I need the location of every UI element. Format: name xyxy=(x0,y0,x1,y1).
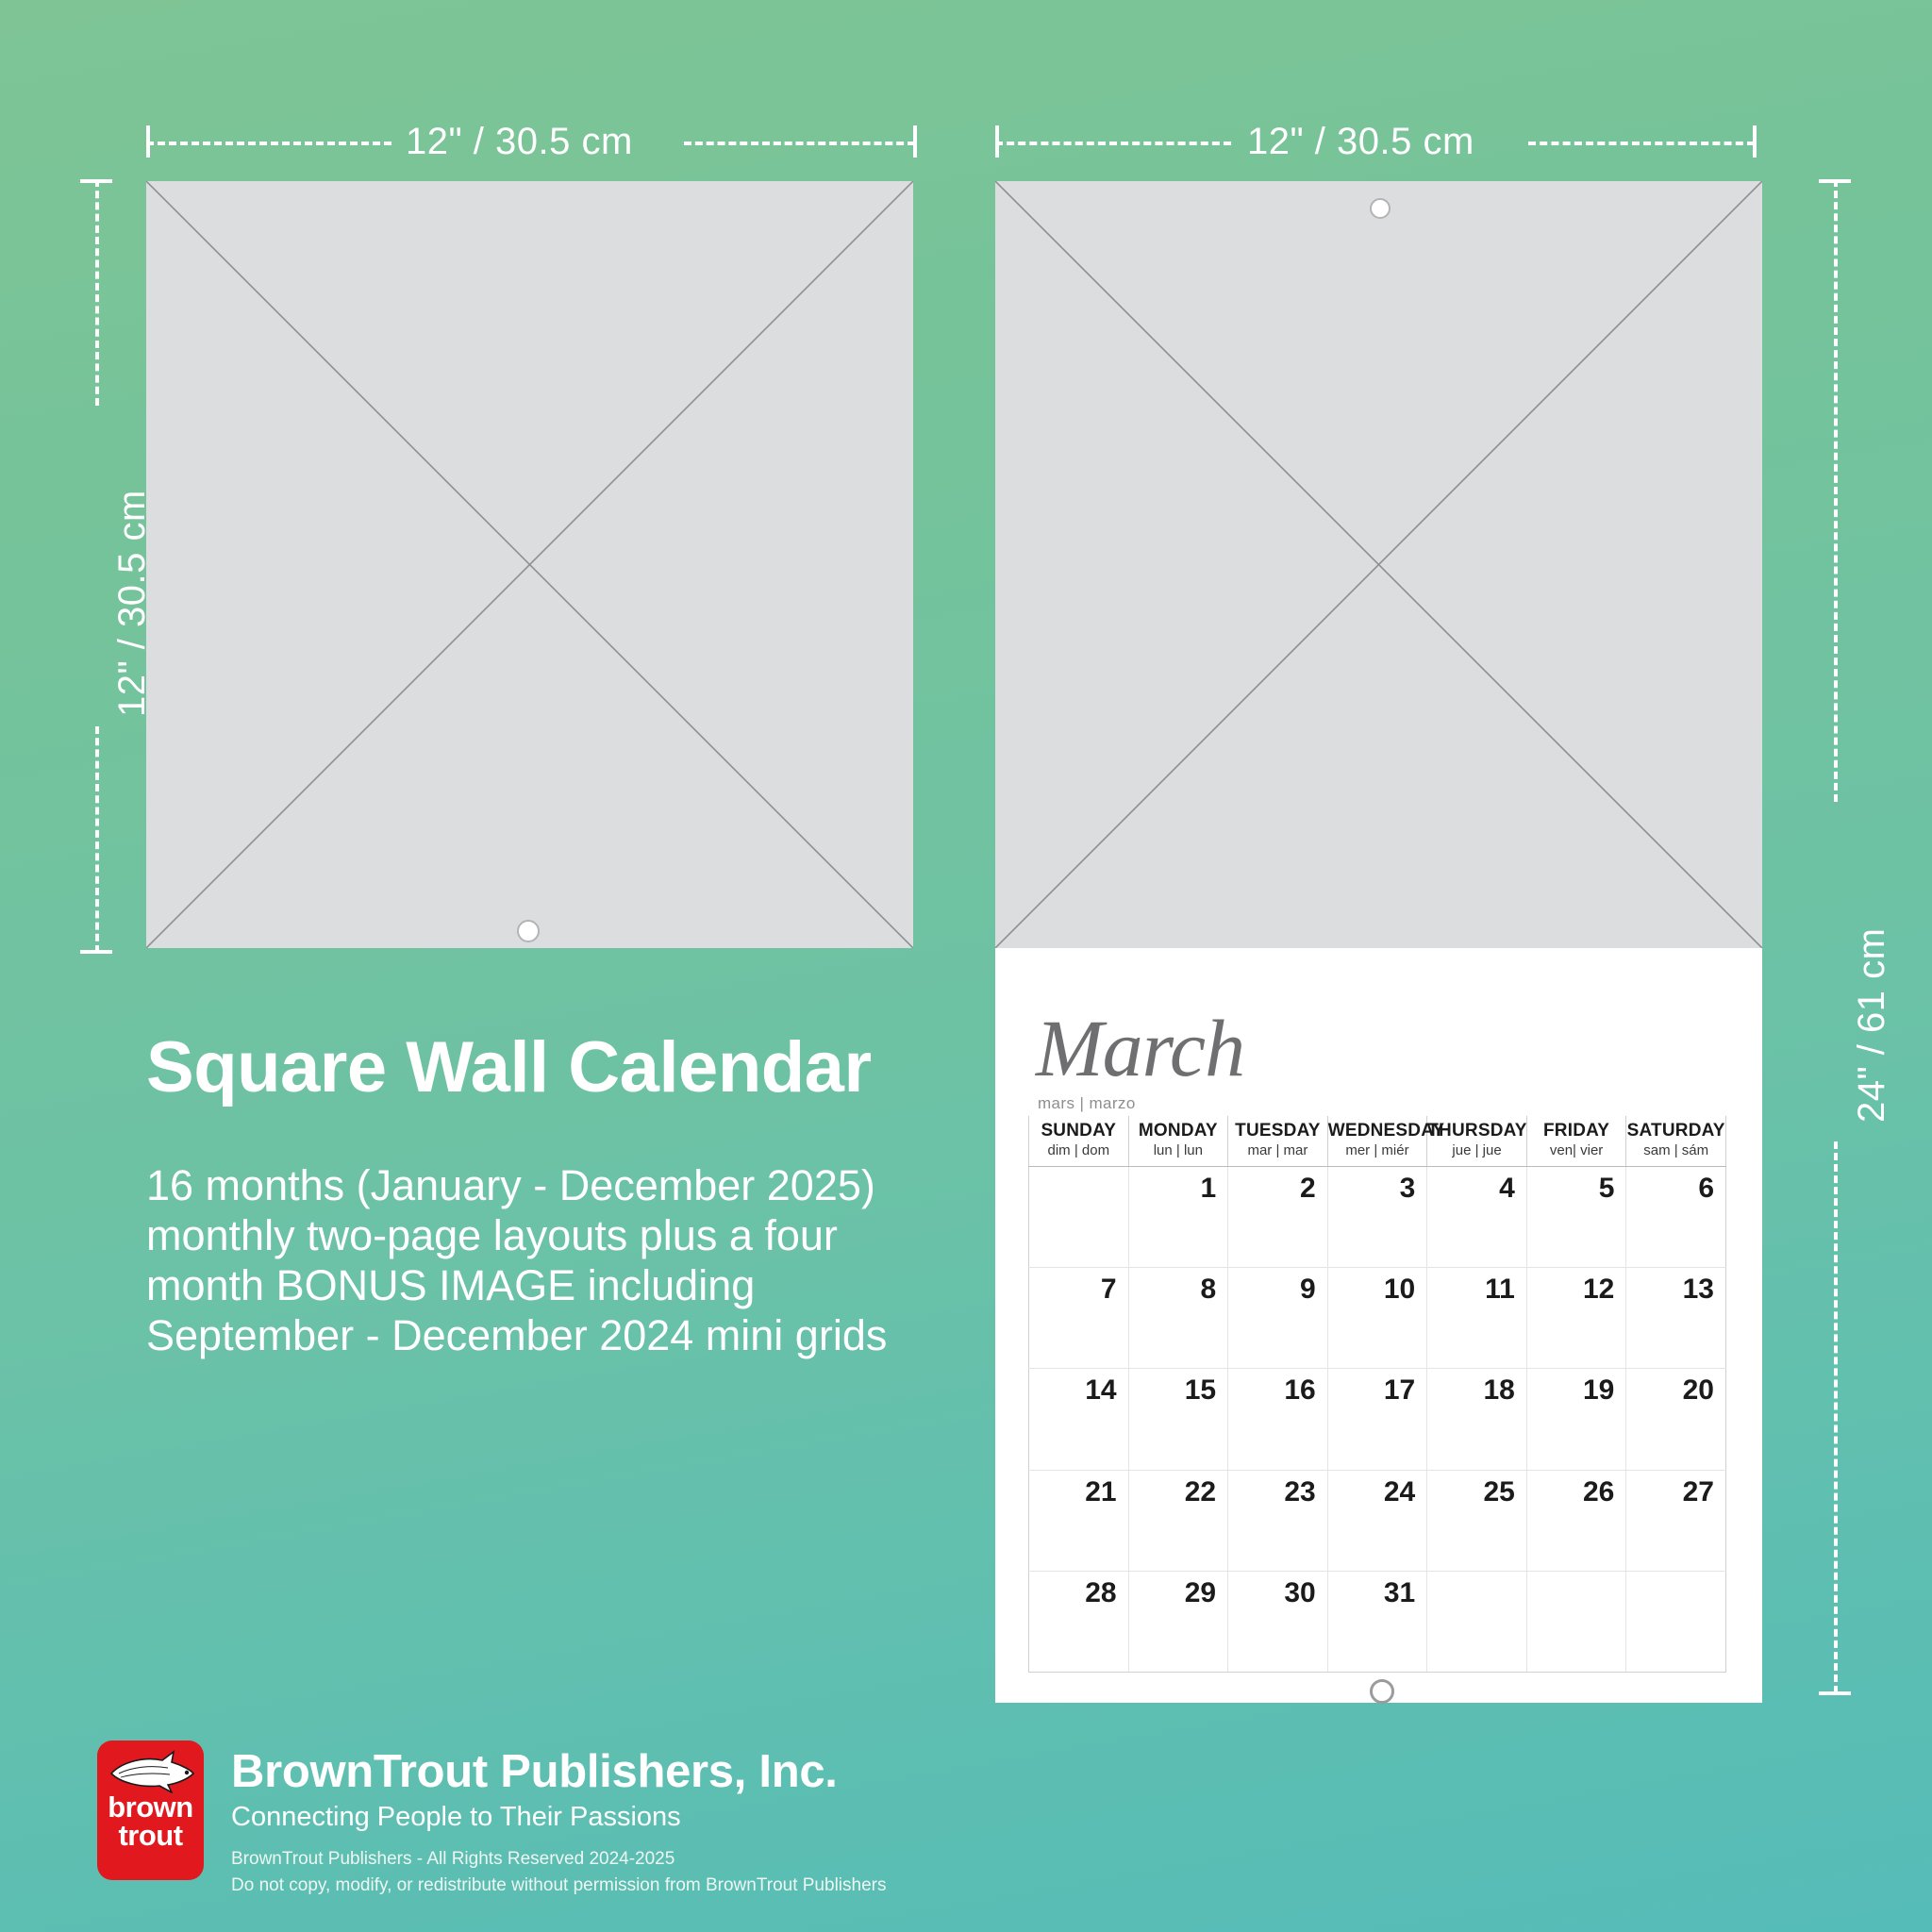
brand-name: BrownTrout Publishers, Inc. xyxy=(231,1745,838,1798)
logo-word-trout: trout xyxy=(118,1822,182,1850)
day-number: 24 xyxy=(1384,1476,1415,1507)
day-number: 6 xyxy=(1698,1173,1714,1204)
day-number: 16 xyxy=(1284,1374,1315,1406)
calendar-day-cell[interactable] xyxy=(1029,1166,1129,1267)
right-dimension-label: 24" / 61 cm xyxy=(1851,928,1893,1123)
day-number: 7 xyxy=(1101,1274,1117,1305)
top-right-dimension-label: 12" / 30.5 cm xyxy=(1247,121,1474,163)
legal-notice: BrownTrout Publishers - All Rights Reser… xyxy=(231,1846,886,1898)
product-headline: Square Wall Calendar xyxy=(146,1026,872,1108)
day-number: 17 xyxy=(1384,1374,1415,1406)
day-number: 30 xyxy=(1284,1577,1315,1608)
calendar-day-cell[interactable] xyxy=(1526,1571,1626,1672)
calendar-day-cell[interactable]: 27 xyxy=(1626,1470,1726,1571)
calendar-day-cell[interactable]: 7 xyxy=(1029,1268,1129,1369)
day-number: 9 xyxy=(1300,1274,1316,1305)
calendar-day-cell[interactable]: 1 xyxy=(1128,1166,1228,1267)
weekday-header-saturday: SATURDAY sam | sám xyxy=(1626,1116,1726,1166)
calendar-month-title: March xyxy=(1036,1008,1244,1089)
weekday-label-en: THURSDAY xyxy=(1427,1122,1526,1141)
weekday-label-loc: lun | lun xyxy=(1129,1142,1228,1159)
calendar-day-cell[interactable]: 25 xyxy=(1427,1470,1527,1571)
calendar-day-cell[interactable]: 15 xyxy=(1128,1369,1228,1470)
legal-line-copyright: BrownTrout Publishers - All Rights Reser… xyxy=(231,1846,886,1873)
day-number: 3 xyxy=(1400,1173,1416,1204)
calendar-day-cell[interactable]: 12 xyxy=(1526,1268,1626,1369)
weekday-label-en: MONDAY xyxy=(1129,1122,1228,1141)
weekday-header-monday: MONDAY lun | lun xyxy=(1128,1116,1228,1166)
day-number: 12 xyxy=(1583,1274,1614,1305)
weekday-header-tuesday: TUESDAY mar | mar xyxy=(1228,1116,1328,1166)
calendar-day-cell[interactable]: 11 xyxy=(1427,1268,1527,1369)
legal-line-restriction: Do not copy, modify, or redistribute wit… xyxy=(231,1873,886,1899)
weekday-label-loc: jue | jue xyxy=(1427,1142,1526,1159)
calendar-day-cell[interactable] xyxy=(1427,1571,1527,1672)
calendar-day-cell[interactable]: 2 xyxy=(1228,1166,1328,1267)
calendar-weekday-header-row: SUNDAY dim | dom MONDAY lun | lun TUESDA… xyxy=(1029,1116,1726,1166)
day-number: 22 xyxy=(1185,1476,1216,1507)
day-number: 18 xyxy=(1483,1374,1514,1406)
panel-diagonal-cross-icon xyxy=(995,181,1762,948)
brand-tagline: Connecting People to Their Passions xyxy=(231,1802,681,1833)
panel-diagonal-cross-icon xyxy=(146,181,913,948)
left-panel-hanging-hole xyxy=(517,920,540,942)
calendar-day-cell[interactable]: 31 xyxy=(1327,1571,1427,1672)
description-line: month BONUS IMAGE including xyxy=(146,1260,887,1310)
calendar-week-row: 7 8 9 10 11 12 13 xyxy=(1029,1268,1726,1369)
calendar-day-cell[interactable]: 17 xyxy=(1327,1369,1427,1470)
description-line: monthly two-page layouts plus a four xyxy=(146,1210,887,1260)
calendar-day-cell[interactable] xyxy=(1626,1571,1726,1672)
weekday-label-en: SATURDAY xyxy=(1626,1122,1725,1141)
day-number: 29 xyxy=(1185,1577,1216,1608)
weekday-label-en: TUESDAY xyxy=(1228,1122,1327,1141)
day-number: 13 xyxy=(1683,1274,1714,1305)
day-number: 21 xyxy=(1085,1476,1116,1507)
calendar-day-cell[interactable]: 24 xyxy=(1327,1470,1427,1571)
day-number: 28 xyxy=(1085,1577,1116,1608)
weekday-label-en: WEDNESDAY xyxy=(1328,1122,1427,1141)
right-cover-panel xyxy=(995,181,1762,948)
day-number: 5 xyxy=(1599,1173,1615,1204)
day-number: 27 xyxy=(1683,1476,1714,1507)
calendar-month-localized: mars | marzo xyxy=(1038,1094,1136,1113)
calendar-day-cell[interactable]: 14 xyxy=(1029,1369,1129,1470)
calendar-week-row: 1 2 3 4 5 6 xyxy=(1029,1166,1726,1267)
calendar-week-row: 14 15 16 17 18 19 20 xyxy=(1029,1369,1726,1470)
calendar-day-cell[interactable]: 18 xyxy=(1427,1369,1527,1470)
calendar-day-cell[interactable]: 3 xyxy=(1327,1166,1427,1267)
day-number: 8 xyxy=(1200,1274,1216,1305)
day-number: 23 xyxy=(1284,1476,1315,1507)
calendar-day-cell[interactable]: 13 xyxy=(1626,1268,1726,1369)
calendar-day-cell[interactable]: 20 xyxy=(1626,1369,1726,1470)
weekday-label-loc: mer | miér xyxy=(1328,1142,1427,1159)
calendar-day-cell[interactable]: 19 xyxy=(1526,1369,1626,1470)
calendar-day-cell[interactable]: 8 xyxy=(1128,1268,1228,1369)
weekday-label-loc: dim | dom xyxy=(1029,1142,1128,1159)
day-number: 10 xyxy=(1384,1274,1415,1305)
calendar-week-row: 28 29 30 31 xyxy=(1029,1571,1726,1672)
weekday-header-wednesday: WEDNESDAY mer | miér xyxy=(1327,1116,1427,1166)
calendar-day-cell[interactable]: 10 xyxy=(1327,1268,1427,1369)
weekday-header-friday: FRIDAY ven| vier xyxy=(1526,1116,1626,1166)
weekday-label-loc: ven| vier xyxy=(1527,1142,1626,1159)
logo-word-brown: brown xyxy=(108,1793,193,1822)
day-number: 26 xyxy=(1583,1476,1614,1507)
left-cover-panel xyxy=(146,181,913,948)
top-left-dimension-label: 12" / 30.5 cm xyxy=(406,121,633,163)
day-number: 20 xyxy=(1683,1374,1714,1406)
description-line: September - December 2024 mini grids xyxy=(146,1310,887,1360)
right-panel-top-hanging-hole xyxy=(1370,198,1391,219)
calendar-day-cell[interactable]: 30 xyxy=(1228,1571,1328,1672)
day-number: 2 xyxy=(1300,1173,1316,1204)
calendar-day-cell[interactable]: 5 xyxy=(1526,1166,1626,1267)
calendar-day-cell[interactable]: 26 xyxy=(1526,1470,1626,1571)
day-number: 19 xyxy=(1583,1374,1614,1406)
weekday-label-loc: mar | mar xyxy=(1228,1142,1327,1159)
weekday-label-loc: sam | sám xyxy=(1626,1142,1725,1159)
calendar-day-cell[interactable]: 23 xyxy=(1228,1470,1328,1571)
calendar-day-cell[interactable]: 16 xyxy=(1228,1369,1328,1470)
calendar-day-cell[interactable]: 21 xyxy=(1029,1470,1129,1571)
calendar-day-cell[interactable]: 9 xyxy=(1228,1268,1328,1369)
browntrout-logo: brown trout xyxy=(97,1740,204,1880)
calendar-week-row: 21 22 23 24 25 26 27 xyxy=(1029,1470,1726,1571)
calendar-grid-table: SUNDAY dim | dom MONDAY lun | lun TUESDA… xyxy=(1028,1116,1726,1673)
product-description: 16 months (January - December 2025) mont… xyxy=(146,1160,887,1360)
day-number: 1 xyxy=(1200,1173,1216,1204)
calendar-day-cell[interactable]: 4 xyxy=(1427,1166,1527,1267)
weekday-label-en: FRIDAY xyxy=(1527,1122,1626,1141)
calendar-day-cell[interactable]: 22 xyxy=(1128,1470,1228,1571)
day-number: 11 xyxy=(1485,1274,1515,1305)
weekday-header-sunday: SUNDAY dim | dom xyxy=(1029,1116,1129,1166)
weekday-label-en: SUNDAY xyxy=(1029,1122,1128,1141)
description-line: 16 months (January - December 2025) xyxy=(146,1160,887,1210)
calendar-page-bottom-hanging-hole xyxy=(1370,1679,1394,1704)
day-number: 25 xyxy=(1483,1476,1514,1507)
weekday-header-thursday: THURSDAY jue | jue xyxy=(1427,1116,1527,1166)
day-number: 4 xyxy=(1499,1173,1515,1204)
calendar-day-cell[interactable]: 29 xyxy=(1128,1571,1228,1672)
trout-fish-icon xyxy=(106,1748,196,1793)
day-number: 15 xyxy=(1185,1374,1216,1406)
day-number: 14 xyxy=(1085,1374,1116,1406)
calendar-day-cell[interactable]: 28 xyxy=(1029,1571,1129,1672)
day-number: 31 xyxy=(1384,1577,1415,1608)
calendar-day-cell[interactable]: 6 xyxy=(1626,1166,1726,1267)
